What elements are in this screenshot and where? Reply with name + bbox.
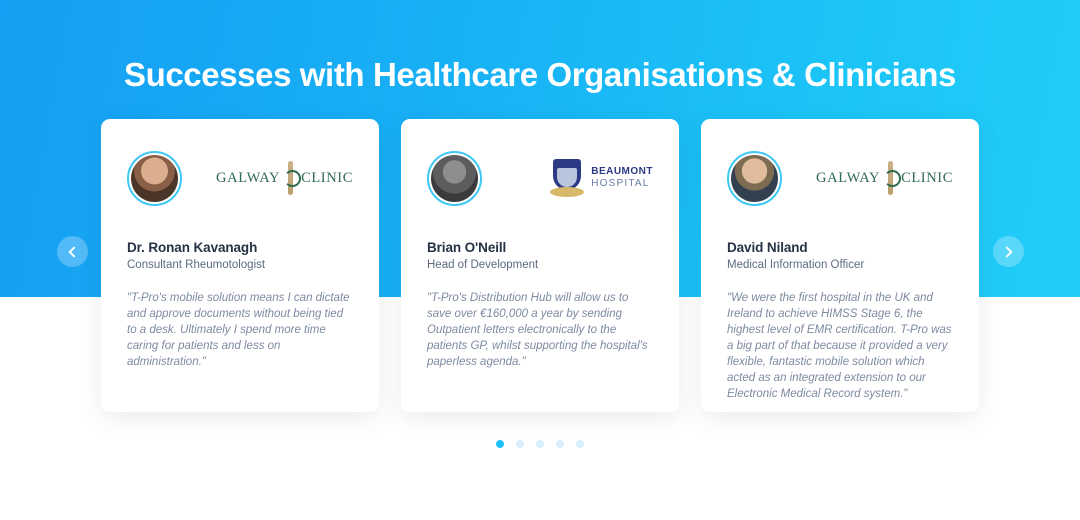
card-header: GALWAY CLINIC	[727, 147, 953, 209]
testimonial-quote: "T-Pro's mobile solution means I can dic…	[127, 290, 353, 370]
testimonial-card-list: GALWAY CLINIC Dr. Ronan Kavanagh Consult…	[101, 119, 979, 412]
person-role: Medical Information Officer	[727, 259, 953, 271]
galway-clinic-logo: GALWAY CLINIC	[816, 161, 953, 195]
card-header: GALWAY CLINIC	[127, 147, 353, 209]
person-identity: David Niland Medical Information Officer	[727, 240, 953, 271]
testimonial-carousel-section: Successes with Healthcare Organisations …	[0, 0, 1080, 520]
chevron-left-icon	[68, 246, 79, 257]
person-name: Dr. Ronan Kavanagh	[127, 240, 353, 255]
pagination-dot[interactable]	[576, 440, 584, 448]
testimonial-card[interactable]: GALWAY CLINIC Dr. Ronan Kavanagh Consult…	[101, 119, 379, 412]
avatar-photo	[131, 155, 178, 202]
avatar	[427, 151, 482, 206]
pagination-dot[interactable]	[496, 440, 504, 448]
pagination-dot[interactable]	[556, 440, 564, 448]
person-name: David Niland	[727, 240, 953, 255]
person-name: Brian O'Neill	[427, 240, 653, 255]
scroll-banner-shape	[550, 187, 584, 197]
pagination-dot[interactable]	[516, 440, 524, 448]
logo-word-primary: BEAUMONT	[591, 166, 653, 179]
beaumont-hospital-logo: BEAUMONT HOSPITAL	[550, 158, 653, 198]
carousel-prev-button[interactable]	[57, 236, 88, 267]
testimonial-quote: "T-Pro's Distribution Hub will allow us …	[427, 290, 653, 370]
testimonial-card[interactable]: GALWAY CLINIC David Niland Medical Infor…	[701, 119, 979, 412]
logo-word-left: GALWAY	[216, 170, 280, 187]
testimonial-quote: "We were the first hospital in the UK an…	[727, 290, 953, 402]
testimonial-card[interactable]: BEAUMONT HOSPITAL Brian O'Neill Head of …	[401, 119, 679, 412]
carousel-pagination	[0, 440, 1080, 448]
chevron-right-icon	[1001, 246, 1012, 257]
galway-clinic-logo: GALWAY CLINIC	[216, 161, 353, 195]
page-title: Successes with Healthcare Organisations …	[0, 54, 1080, 96]
avatar-photo	[731, 155, 778, 202]
person-role: Consultant Rheumotologist	[127, 259, 353, 271]
avatar	[127, 151, 182, 206]
pagination-dot[interactable]	[536, 440, 544, 448]
crest-icon	[550, 158, 584, 198]
avatar	[727, 151, 782, 206]
person-role: Head of Development	[427, 259, 653, 271]
person-identity: Dr. Ronan Kavanagh Consultant Rheumotolo…	[127, 240, 353, 271]
shield-shape	[553, 159, 581, 190]
avatar-photo	[431, 155, 478, 202]
carousel-next-button[interactable]	[993, 236, 1024, 267]
caduceus-icon	[283, 161, 298, 195]
caduceus-icon	[883, 161, 898, 195]
logo-word-right: CLINIC	[901, 170, 953, 187]
logo-word-right: CLINIC	[301, 170, 353, 187]
card-header: BEAUMONT HOSPITAL	[427, 147, 653, 209]
person-identity: Brian O'Neill Head of Development	[427, 240, 653, 271]
logo-word-left: GALWAY	[816, 170, 880, 187]
logo-word-secondary: HOSPITAL	[591, 178, 653, 191]
logo-wordmark: BEAUMONT HOSPITAL	[591, 166, 653, 191]
